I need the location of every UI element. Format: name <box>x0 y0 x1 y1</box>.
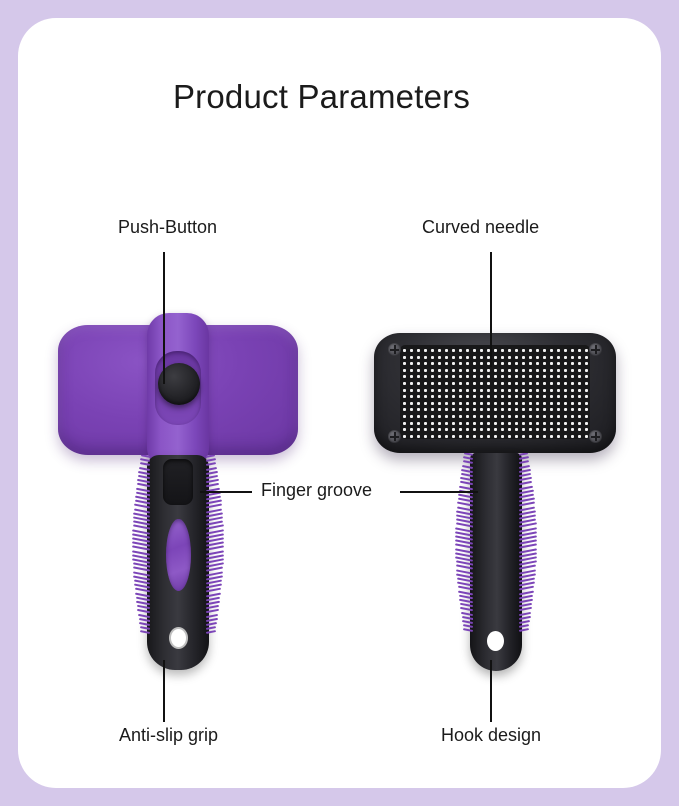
leader-line-anti-slip-grip <box>163 660 165 722</box>
leader-line-finger-groove-left <box>200 491 252 493</box>
leader-line-hook-design <box>490 660 492 722</box>
curved-needle-grid <box>400 345 590 439</box>
anti-slip-teeth-left <box>128 455 150 635</box>
anti-slip-teeth-left <box>451 453 473 633</box>
callout-label-curved-needle: Curved needle <box>422 217 539 238</box>
hook-hole <box>169 627 188 649</box>
leader-line-finger-groove-right <box>400 491 478 493</box>
screw-icon <box>589 430 602 443</box>
callout-label-push-button: Push-Button <box>118 217 217 238</box>
handle-back <box>470 453 522 671</box>
anti-slip-teeth-right <box>519 453 541 633</box>
finger-groove-slot <box>163 459 193 505</box>
screw-icon <box>388 343 401 356</box>
purple-oval-inlay <box>166 519 191 591</box>
screw-icon <box>388 430 401 443</box>
hook-hole <box>487 631 504 651</box>
screw-icon <box>589 343 602 356</box>
page-title: Product Parameters <box>0 78 643 116</box>
callout-label-finger-groove: Finger groove <box>261 480 372 501</box>
anti-slip-teeth-right <box>206 455 228 635</box>
leader-line-push-button <box>163 252 165 384</box>
callout-label-hook-design: Hook design <box>441 725 541 746</box>
callout-label-anti-slip-grip: Anti-slip grip <box>119 725 218 746</box>
infographic-canvas: Product Parameters <box>0 0 679 806</box>
handle-front <box>147 455 209 670</box>
needle-pad <box>374 333 616 453</box>
product-image-pin-view <box>370 305 620 675</box>
leader-line-curved-needle <box>490 252 492 367</box>
